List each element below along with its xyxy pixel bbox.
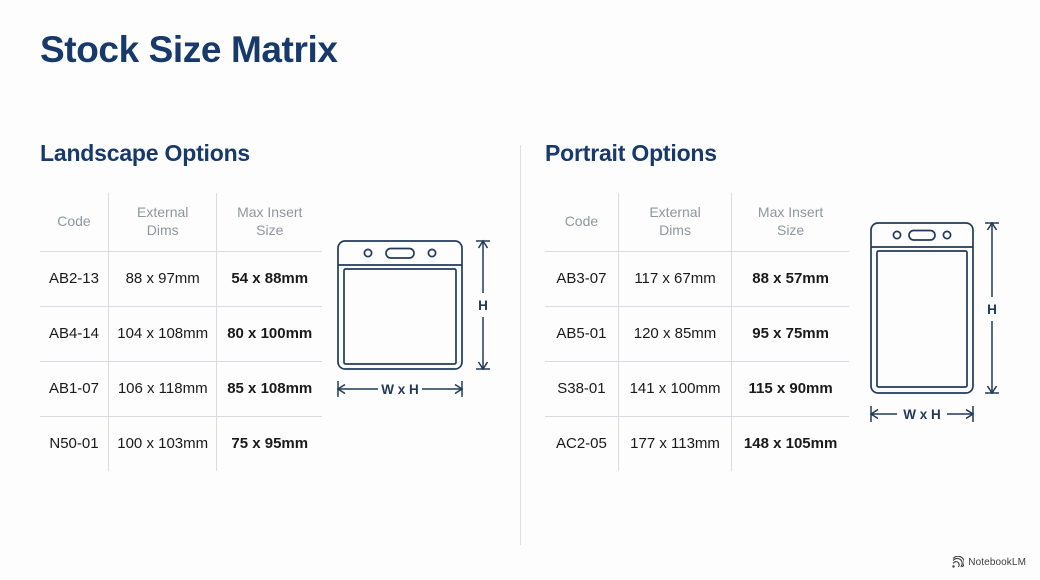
column-header-external-dims: External Dims <box>108 193 217 251</box>
table-header-row: Code External Dims Max Insert Size <box>40 193 322 251</box>
cell-external-dims: 120 x 85mm <box>618 306 731 361</box>
notebooklm-watermark: NotebookLM <box>952 556 1026 568</box>
cell-code: AB5-01 <box>545 306 618 361</box>
cell-code: AB1-07 <box>40 361 108 416</box>
landscape-column: Landscape Options Code External Dims Max… <box>40 142 500 471</box>
watermark-label: NotebookLM <box>968 557 1026 568</box>
column-header-code: Code <box>40 193 108 251</box>
column-header-insert-line2: Size <box>777 222 804 238</box>
cell-external-dims: 100 x 103mm <box>108 416 217 471</box>
cell-max-insert-size: 88 x 57mm <box>732 251 849 306</box>
portrait-block: Code External Dims Max Insert Size AB3-0… <box>545 193 1005 471</box>
table-header-row: Code External Dims Max Insert Size <box>545 193 849 251</box>
column-header-insert-line1: Max Insert <box>758 204 823 220</box>
cell-max-insert-size: 148 x 105mm <box>732 416 849 471</box>
column-header-external-line2: Dims <box>659 222 691 238</box>
cell-code: AB4-14 <box>40 306 108 361</box>
cell-code: AB2-13 <box>40 251 108 306</box>
column-header-external-line1: External <box>137 204 188 220</box>
table-row: AB2-13 88 x 97mm 54 x 88mm <box>40 251 322 306</box>
cell-max-insert-size: 95 x 75mm <box>732 306 849 361</box>
cell-max-insert-size: 85 x 108mm <box>217 361 322 416</box>
table-row: N50-01 100 x 103mm 75 x 95mm <box>40 416 322 471</box>
cell-code: AC2-05 <box>545 416 618 471</box>
cell-external-dims: 141 x 100mm <box>618 361 731 416</box>
cell-external-dims: 177 x 113mm <box>618 416 731 471</box>
cell-code: N50-01 <box>40 416 108 471</box>
column-header-external-line2: Dims <box>147 222 179 238</box>
cell-max-insert-size: 115 x 90mm <box>732 361 849 416</box>
landscape-width-label: W x H <box>381 382 419 397</box>
column-header-insert-line2: Size <box>256 222 283 238</box>
table-row: S38-01 141 x 100mm 115 x 90mm <box>545 361 849 416</box>
cell-external-dims: 106 x 118mm <box>108 361 217 416</box>
column-header-max-insert-size: Max Insert Size <box>217 193 322 251</box>
column-header-insert-line1: Max Insert <box>237 204 302 220</box>
cell-external-dims: 104 x 108mm <box>108 306 217 361</box>
cell-max-insert-size: 75 x 95mm <box>217 416 322 471</box>
table-row: AB5-01 120 x 85mm 95 x 75mm <box>545 306 849 361</box>
portrait-column: Portrait Options Code External Dims Max … <box>545 142 1005 471</box>
landscape-size-table: Code External Dims Max Insert Size AB2-1… <box>40 193 322 471</box>
landscape-badge-diagram: H W x H <box>328 229 500 414</box>
column-header-max-insert-size: Max Insert Size <box>732 193 849 251</box>
column-header-external-line1: External <box>649 204 700 220</box>
portrait-section-title: Portrait Options <box>545 142 1005 165</box>
table-row: AB1-07 106 x 118mm 85 x 108mm <box>40 361 322 416</box>
notebooklm-spiral-icon <box>952 556 964 568</box>
portrait-size-table: Code External Dims Max Insert Size AB3-0… <box>545 193 849 471</box>
portrait-height-label: H <box>987 302 997 317</box>
page-title: Stock Size Matrix <box>40 31 338 68</box>
cell-external-dims: 88 x 97mm <box>108 251 217 306</box>
column-header-external-dims: External Dims <box>618 193 731 251</box>
landscape-section-title: Landscape Options <box>40 142 500 165</box>
landscape-block: Code External Dims Max Insert Size AB2-1… <box>40 193 500 471</box>
cell-max-insert-size: 54 x 88mm <box>217 251 322 306</box>
table-row: AB3-07 117 x 67mm 88 x 57mm <box>545 251 849 306</box>
column-header-code: Code <box>545 193 618 251</box>
cell-code: AB3-07 <box>545 251 618 306</box>
column-divider <box>520 145 521 545</box>
table-row: AC2-05 177 x 113mm 148 x 105mm <box>545 416 849 471</box>
table-row: AB4-14 104 x 108mm 80 x 100mm <box>40 306 322 361</box>
cell-external-dims: 117 x 67mm <box>618 251 731 306</box>
cell-max-insert-size: 80 x 100mm <box>217 306 322 361</box>
portrait-badge-diagram: H W x H <box>857 209 1005 444</box>
portrait-width-label: W x H <box>903 407 941 422</box>
landscape-height-label: H <box>478 298 488 313</box>
cell-code: S38-01 <box>545 361 618 416</box>
